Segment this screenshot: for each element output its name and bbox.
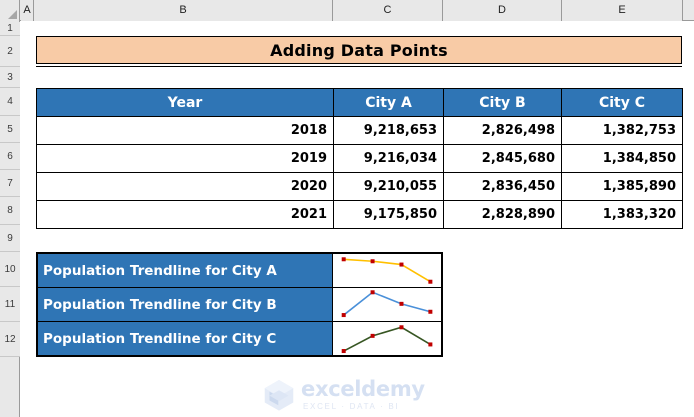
sparkline-marker-1-1 [371,290,375,294]
column-header-b[interactable]: B [34,0,333,21]
column-header-city-a[interactable]: City A [334,89,444,117]
column-header-d[interactable]: D [443,0,562,21]
column-header-city-b[interactable]: City B [444,89,562,117]
row-header-8[interactable]: 8 [0,197,20,225]
column-header-city-c[interactable]: City C [562,89,683,117]
row-header-1[interactable]: 1 [0,22,20,36]
select-all-corner[interactable] [0,0,20,21]
cell-city-b-1[interactable]: 2,845,680 [444,145,562,173]
title-banner-text: Adding Data Points [270,41,448,60]
sparkline-row-1: Population Trendline for City B [37,287,442,322]
cell-city-c-2[interactable]: 1,385,890 [562,173,683,201]
cell-city-b-3[interactable]: 2,828,890 [444,201,562,229]
cell-year-1[interactable]: 2019 [37,145,334,173]
sparkline-line-2 [344,327,431,351]
sparkline-label-2[interactable]: Population Trendline for City C [37,321,333,356]
sparkline-marker-0-2 [399,263,403,267]
sparkline-marker-2-3 [428,342,432,346]
row-header-6[interactable]: 6 [0,143,20,170]
sparkline-chart-2[interactable] [333,321,442,356]
cell-city-a-3[interactable]: 9,175,850 [334,201,444,229]
cell-city-b-0[interactable]: 2,826,498 [444,117,562,145]
row-header-12[interactable]: 12 [0,322,20,357]
spreadsheet-canvas: ABCDE 123456789101112 Adding Data Points… [0,0,694,417]
row-header-2[interactable]: 2 [0,36,20,67]
sparkline-marker-0-0 [342,257,346,261]
sparkline-marker-1-2 [399,302,403,306]
sparkline-chart-1[interactable] [333,287,442,322]
row-header-strip: 123456789101112 [0,21,20,417]
row-header-5[interactable]: 5 [0,116,20,143]
sparkline-marker-2-1 [371,334,375,338]
row-header-10[interactable]: 10 [0,252,20,287]
sparkline-row-2: Population Trendline for City C [37,321,442,356]
title-banner[interactable]: Adding Data Points [36,36,682,64]
sparkline-svg-1 [333,288,440,321]
select-all-triangle-icon [8,10,17,19]
sparkline-svg-2 [333,322,440,355]
cell-city-c-0[interactable]: 1,382,753 [562,117,683,145]
cell-city-c-1[interactable]: 1,384,850 [562,145,683,173]
column-header-strip: ABCDE [0,0,694,21]
column-header-year[interactable]: Year [37,89,334,117]
row-header-3[interactable]: 3 [0,67,20,88]
sparkline-marker-0-3 [428,280,432,284]
sparkline-marker-1-3 [428,310,432,314]
row-header-4[interactable]: 4 [0,88,20,116]
sparkline-svg-0 [333,254,440,287]
sparkline-row-0: Population Trendline for City A [37,253,442,288]
sparkline-line-1 [344,292,431,315]
cell-city-c-3[interactable]: 1,383,320 [562,201,683,229]
sparkline-marker-2-0 [342,349,346,353]
row-header-9[interactable]: 9 [0,225,20,252]
table-row: 20189,218,6532,826,4981,382,753 [37,117,683,145]
cell-city-a-2[interactable]: 9,210,055 [334,173,444,201]
sparkline-marker-1-0 [342,313,346,317]
population-data-table[interactable]: Year City A City B City C 20189,218,6532… [36,88,683,229]
cell-city-a-0[interactable]: 9,218,653 [334,117,444,145]
table-row: 20209,210,0552,836,4501,385,890 [37,173,683,201]
table-header-row: Year City A City B City C [37,89,683,117]
sparkline-label-0[interactable]: Population Trendline for City A [37,253,333,288]
row-header-11[interactable]: 11 [0,287,20,322]
table-row: 20219,175,8502,828,8901,383,320 [37,201,683,229]
column-header-e[interactable]: E [562,0,683,21]
cell-year-0[interactable]: 2018 [37,117,334,145]
column-header-c[interactable]: C [333,0,443,21]
sparkline-marker-0-1 [371,259,375,263]
cell-city-a-1[interactable]: 9,216,034 [334,145,444,173]
table-row: 20199,216,0342,845,6801,384,850 [37,145,683,173]
cell-year-3[interactable]: 2021 [37,201,334,229]
column-header-a[interactable]: A [21,0,34,21]
cell-city-b-2[interactable]: 2,836,450 [444,173,562,201]
sparkline-line-0 [344,259,431,281]
sparkline-block: Population Trendline for City APopulatio… [36,252,443,357]
row-header-7[interactable]: 7 [0,170,20,197]
sparkline-label-1[interactable]: Population Trendline for City B [37,287,333,322]
cell-year-2[interactable]: 2020 [37,173,334,201]
title-banner-underline [36,66,682,67]
sparkline-marker-2-2 [399,325,403,329]
sparkline-chart-0[interactable] [333,253,442,288]
